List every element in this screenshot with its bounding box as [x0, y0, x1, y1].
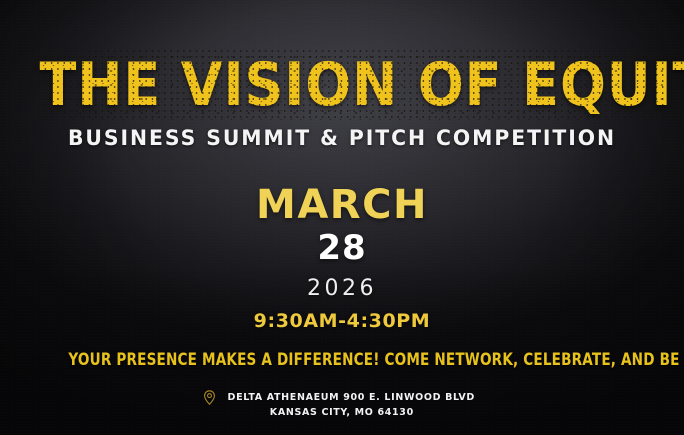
venue-address-line-1: DELTA ATHENAEUM 900 E. LINWOOD BLVD — [227, 392, 474, 403]
event-year: 2026 — [0, 276, 684, 301]
event-day: 28 — [0, 228, 684, 268]
event-title: THE VISION OF EQUITY — [39, 52, 684, 118]
event-time: 9:30AM-4:30PM — [0, 310, 684, 332]
event-subtitle: BUSINESS SUMMIT & PITCH COMPETITION — [10, 126, 673, 150]
event-poster: THE VISION OF EQUITY BUSINESS SUMMIT & P… — [0, 0, 684, 435]
event-tagline: YOUR PRESENCE MAKES A DIFFERENCE! COME N… — [68, 350, 615, 370]
venue-address-line-1-row: DELTA ATHENAEUM 900 E. LINWOOD BLVD — [203, 390, 482, 405]
title-container: THE VISION OF EQUITY — [0, 52, 684, 124]
poster-content: THE VISION OF EQUITY BUSINESS SUMMIT & P… — [0, 0, 684, 435]
location-pin-icon — [203, 390, 216, 405]
venue-address-line-2: KANSAS CITY, MO 64130 — [270, 407, 414, 418]
venue-block: DELTA ATHENAEUM 900 E. LINWOOD BLVD KANS… — [0, 390, 684, 418]
event-month: MARCH — [0, 182, 684, 228]
